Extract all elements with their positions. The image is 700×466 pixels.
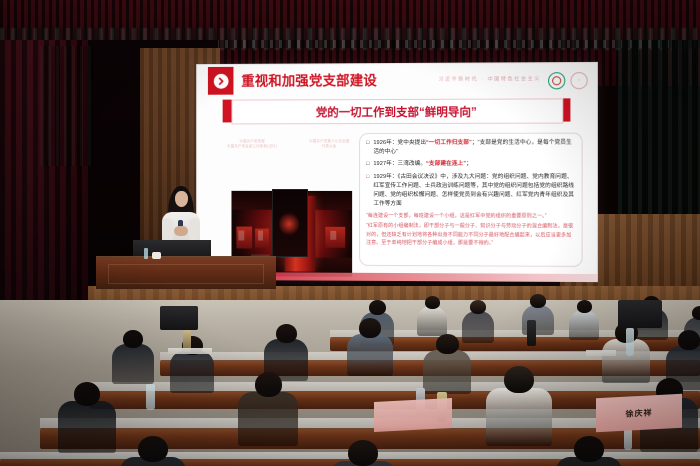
- audience-member: [347, 318, 393, 380]
- chevron-right-circle-icon: [208, 67, 234, 95]
- presenter-hands: [174, 226, 188, 236]
- audience-member: [417, 296, 447, 339]
- audience-head: [577, 300, 592, 313]
- audience-head: [678, 330, 700, 350]
- audience-member: [569, 300, 599, 343]
- audience-head: [574, 436, 604, 462]
- paper-documents: [168, 348, 212, 354]
- audience-member: [556, 436, 622, 466]
- slide-faint-text-right: 中国共产党第十九次全国 代表大会: [295, 139, 364, 149]
- slide-quote-line: “每连建设一个支部，每班建设一个小组，这是红军中党的组织的重要原则之一。”: [366, 212, 574, 221]
- audience-member: [112, 330, 154, 388]
- audience-torso: [58, 401, 116, 453]
- audience-torso: [423, 350, 471, 394]
- slide-brand-text: 习近平新时代 · 中国特色社会主义: [438, 75, 541, 83]
- name-card-text: 徐庆祥: [626, 407, 653, 419]
- audience-member: [170, 336, 214, 397]
- water-bottle: [146, 384, 155, 410]
- audience-head: [436, 334, 459, 354]
- stage-monitor-speaker: [618, 300, 662, 328]
- audience-head: [348, 440, 378, 466]
- curtain-green-accent: [40, 46, 94, 166]
- water-bottle: [144, 248, 148, 259]
- audience-head: [359, 318, 381, 338]
- audience-head: [74, 382, 100, 406]
- audience-torso: [486, 388, 552, 446]
- slide-faint-text-left: 中国共产党章程 中国共产党支部工作条例(试行): [218, 139, 287, 149]
- green-emblem-logo: [548, 72, 565, 89]
- stage-monitor-speaker: [160, 306, 198, 330]
- audience-head: [692, 306, 700, 320]
- water-bottle: [626, 328, 634, 356]
- stage-desk-panel: [108, 264, 264, 284]
- audience-torso: [569, 310, 599, 340]
- audience-head: [530, 294, 546, 308]
- audience-head: [369, 300, 386, 315]
- water-bottle: [624, 428, 632, 450]
- audience-member: [120, 436, 186, 466]
- audience-torso: [347, 334, 393, 376]
- stage-side-monitor: [272, 189, 308, 257]
- slide-title: 重视和加强党支部建设: [241, 69, 377, 90]
- tea-cup: [152, 252, 161, 259]
- presenter-face: [175, 191, 188, 207]
- audience-head: [276, 324, 297, 343]
- bullet-text: 1929年：《古田会议决议》中，涉及九大问题：党的组织问题、党内教育问题、红军宣…: [373, 173, 574, 210]
- slide-bullet: □1927年：三湾改编。“支部建在连上”；: [366, 160, 574, 169]
- stage-curtain-right: [618, 40, 700, 226]
- red-seal-logo: ☉: [570, 72, 587, 89]
- audience-member: [486, 366, 552, 451]
- audience-torso: [170, 351, 214, 393]
- bullet-text: 1927年：三湾改编。“支部建在连上”；: [373, 160, 472, 169]
- audience-member: [58, 382, 116, 458]
- slide-quote-block: “每连建设一个支部，每班建设一个小组，这是红军中党的组织的重要原则之一。”“红军…: [366, 212, 574, 249]
- audience-head: [425, 296, 440, 309]
- presenter-arm-left: [162, 218, 173, 242]
- slide-header: 重视和加强党支部建设 习近平新时代 · 中国特色社会主义 ☉: [196, 62, 598, 96]
- name-card: 徐庆祥: [596, 394, 682, 433]
- audience-member: [423, 334, 471, 398]
- audience-head: [470, 300, 486, 314]
- bullet-marker-icon: □: [366, 139, 369, 157]
- bullet-text: 1926年：党中央提出“一切工作归支部”；“支部是党的生活中心，是每个党员生活的…: [373, 139, 574, 157]
- thermos: [527, 320, 536, 346]
- audience-torso: [238, 392, 298, 446]
- paper-documents: [586, 350, 616, 356]
- audience-head: [138, 436, 168, 462]
- slide-banner: 党的一切工作到支部“鲜明导向”: [231, 98, 563, 124]
- slide-text-panel: □1926年：党中央提出“一切工作归支部”；“支部是党的生活中心，是每个党员生活…: [359, 133, 583, 267]
- audience-head: [504, 366, 534, 393]
- projected-slide: 重视和加强党支部建设 习近平新时代 · 中国特色社会主义 ☉ 党的一切工作到支部…: [196, 62, 598, 282]
- bullet-marker-icon: □: [366, 160, 369, 169]
- slide-bullet-list: □1926年：党中央提出“一切工作归支部”；“支部是党的生活中心，是每个党员生活…: [366, 139, 574, 209]
- audience-torso: [112, 344, 154, 384]
- auditorium-photo: 重视和加强党支部建设 习近平新时代 · 中国特色社会主义 ☉ 党的一切工作到支部…: [0, 0, 700, 466]
- audience-member: [330, 440, 396, 466]
- slide-bullet: □1926年：党中央提出“一切工作归支部”；“支部是党的生活中心，是每个党员生活…: [366, 139, 574, 157]
- audience-member: [238, 372, 298, 451]
- audience-head: [123, 330, 143, 348]
- audience-head: [255, 372, 282, 397]
- audience-torso: [417, 306, 447, 336]
- slide-banner-text: 党的一切工作到支部“鲜明导向”: [316, 103, 477, 119]
- slide-quote-line: “红军原有的小组编制法，即干部分子与一般分子、知识分子与劳动分子的混合编制法，是…: [366, 222, 574, 249]
- name-card: [374, 398, 452, 432]
- bullet-marker-icon: □: [366, 173, 369, 209]
- slide-bullet: □1929年：《古田会议决议》中，涉及九大问题：党的组织问题、党内教育问题、红军…: [366, 173, 574, 210]
- presenter-arm-right: [189, 218, 200, 242]
